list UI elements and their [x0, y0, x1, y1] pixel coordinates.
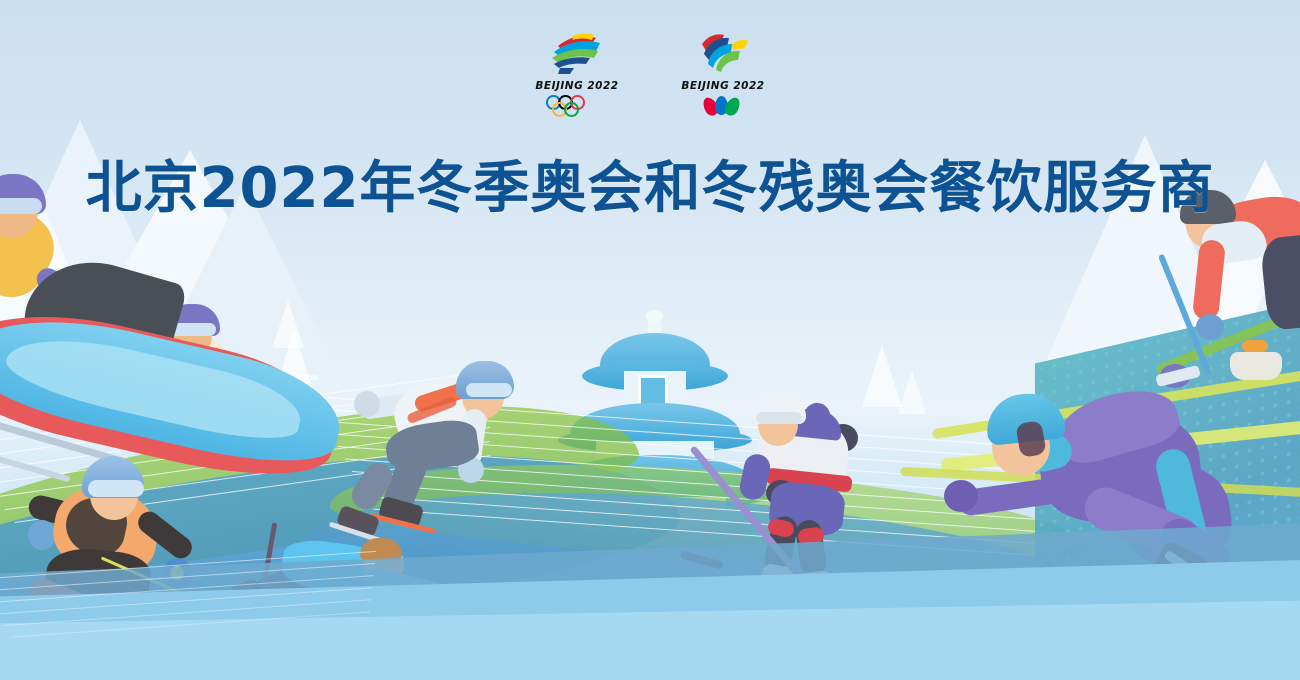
emblem-row: BEIJING 2022 BEIJING 2022	[0, 30, 1300, 118]
olympic-wordmark: BEIJING 2022	[528, 80, 626, 92]
speedskater-glove	[944, 480, 978, 512]
sweeper-lower-body	[1259, 233, 1300, 331]
skater-visor	[466, 383, 512, 397]
olympic-rings-icon	[528, 95, 626, 117]
hockey-face-cage	[756, 412, 802, 424]
athlete-short-track-speed-skater	[340, 345, 530, 545]
skier-back-glove	[28, 520, 56, 550]
beijing-2022-olympic-emblem-icon	[528, 30, 626, 78]
page-title: 北京2022年冬季奥会和冬残奥会餐饮服务商	[0, 143, 1300, 224]
curling-stone-top-right	[1230, 352, 1282, 380]
skater-back-glove	[354, 391, 380, 417]
paralympic-agitos-icon	[674, 96, 772, 118]
beijing-2022-paralympic-emblem-icon	[674, 30, 772, 78]
curling-stone-handle-top-right	[1242, 340, 1268, 352]
beijing-2022-catering-banner: BEIJING 2022 BEIJING 2022	[0, 0, 1300, 680]
sweeper-arm	[1192, 239, 1226, 321]
paralympic-wordmark: BEIJING 2022	[674, 80, 772, 92]
skier-goggles	[88, 480, 144, 497]
paralympic-emblem-block: BEIJING 2022	[674, 30, 772, 118]
olympic-emblem-block: BEIJING 2022	[528, 30, 626, 118]
sweeper-glove	[1196, 314, 1224, 340]
